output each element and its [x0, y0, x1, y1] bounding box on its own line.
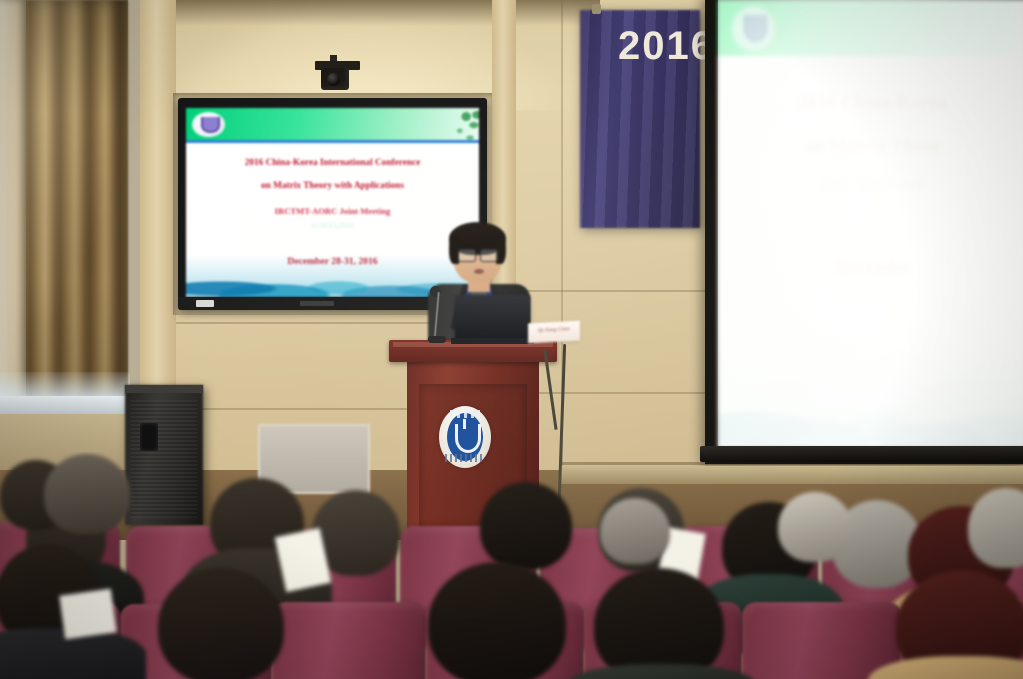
audience-area — [0, 452, 1023, 679]
wall-top-shadow — [130, 0, 600, 26]
audience-head — [158, 568, 284, 679]
seat — [272, 602, 426, 679]
pa-speaker-top — [125, 385, 203, 393]
audience-head — [594, 568, 724, 679]
audience-head — [778, 492, 852, 562]
slide-subtitle: IRCTMT-AORC Joint Meeting — [275, 206, 391, 216]
emblem-u-shape-icon — [455, 424, 481, 453]
name-card-text: Qi-Sang Chen — [528, 327, 580, 335]
audience-paper — [59, 589, 117, 640]
microphone-base — [428, 336, 446, 343]
tv-brand-logo — [300, 301, 334, 306]
audience-head — [968, 488, 1023, 568]
audience-head — [44, 454, 130, 534]
university-crest-icon — [193, 113, 224, 137]
slide-acronym: ICMTA2016 — [311, 221, 354, 230]
audience-head — [600, 498, 670, 564]
presenter-name-card: Qi-Sang Chen — [528, 321, 580, 344]
laptop-icon — [455, 295, 530, 343]
audience-head — [480, 482, 572, 570]
glasses-lens-right-icon — [480, 249, 498, 262]
glasses-lens-left-icon — [458, 249, 476, 262]
conference-hall-photo: 2016 China-Korea International Conferenc… — [0, 0, 1023, 679]
glasses-bridge-icon — [474, 253, 480, 254]
presenter-mouth — [474, 269, 484, 274]
audience-head — [428, 562, 566, 679]
slide-title-line1: 2016 China-Korea International Conferenc… — [245, 158, 421, 170]
camera-lens-icon — [327, 73, 340, 86]
sheer-curtain — [0, 0, 26, 402]
emblem-chinese-characters — [450, 410, 480, 418]
pa-speaker-handle — [140, 423, 158, 451]
emblem-stem-icon — [463, 419, 466, 429]
banner-clip-icon — [592, 4, 601, 14]
laptop-base — [451, 338, 534, 344]
projection-overexposure-glow — [718, 0, 1023, 448]
slide-title-line2: on Matrix Theory with Applications — [261, 181, 404, 193]
banner-year-text: 2016 — [618, 24, 715, 69]
tv-indicator-led — [196, 300, 214, 307]
